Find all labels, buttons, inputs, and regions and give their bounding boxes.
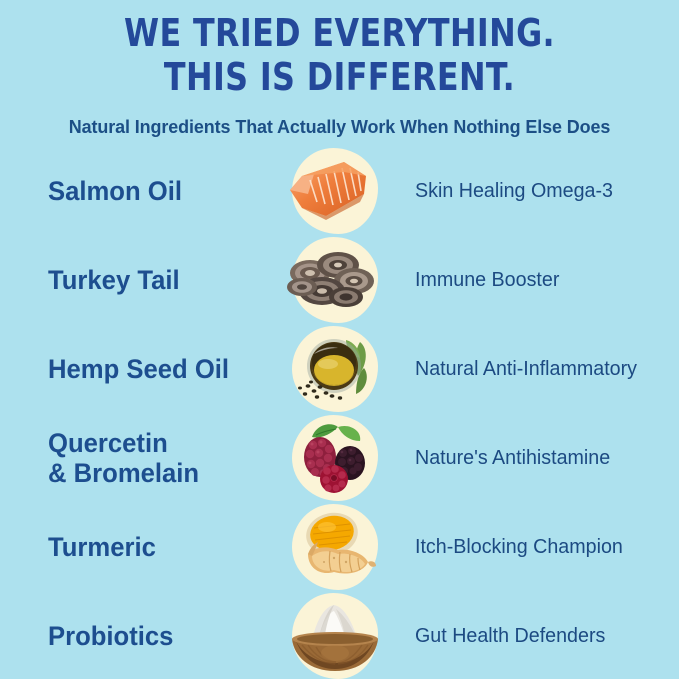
- berries-icon: [272, 413, 398, 502]
- ingredient-row-probiotics: Probiotics: [0, 591, 679, 679]
- ingredient-benefit: Gut Health Defenders: [415, 625, 605, 647]
- ingredient-art: [272, 413, 398, 502]
- ingredient-art: [272, 235, 398, 324]
- ingredient-benefit: Skin Healing Omega-3: [415, 180, 613, 202]
- ingredient-name: Hemp Seed Oil: [48, 354, 229, 384]
- ingredient-name: Salmon Oil: [48, 176, 182, 206]
- ingredient-art: [272, 324, 398, 413]
- ingredient-row-salmon-oil: Salmon Oil: [0, 146, 679, 235]
- ingredient-name: Quercetin & Bromelain: [48, 428, 199, 488]
- probiotic-powder-bowl-icon: [272, 591, 398, 679]
- ingredient-infographic: WE TRIED EVERYTHING. THIS IS DIFFERENT. …: [0, 0, 679, 679]
- turmeric-root-icon: [272, 502, 398, 591]
- ingredient-row-quercetin-bromelain: Quercetin & Bromelain: [0, 413, 679, 502]
- ingredient-row-turmeric: Turmeric: [0, 502, 679, 591]
- ingredient-benefit: Nature's Antihistamine: [415, 447, 610, 469]
- hemp-oil-bowl-icon: [272, 324, 398, 413]
- ingredient-name: Probiotics: [48, 621, 173, 651]
- header: WE TRIED EVERYTHING. THIS IS DIFFERENT. …: [0, 0, 679, 137]
- ingredient-benefit: Itch-Blocking Champion: [415, 536, 623, 558]
- ingredient-art: [272, 591, 398, 679]
- ingredient-benefit: Immune Booster: [415, 269, 559, 291]
- ingredient-art: [272, 502, 398, 591]
- ingredient-list: Salmon Oil: [0, 146, 679, 679]
- headline-line-2: THIS IS DIFFERENT.: [24, 58, 655, 96]
- ingredient-art: [272, 146, 398, 235]
- ingredient-benefit: Natural Anti-Inflammatory: [415, 358, 637, 380]
- salmon-fillet-icon: [272, 146, 398, 235]
- turkey-tail-mushroom-icon: [272, 235, 398, 324]
- subheadline: Natural Ingredients That Actually Work W…: [10, 117, 669, 137]
- ingredient-row-turkey-tail: Turkey Tail: [0, 235, 679, 324]
- ingredient-row-hemp-seed-oil: Hemp Seed Oil: [0, 324, 679, 413]
- ingredient-name: Turkey Tail: [48, 265, 180, 295]
- ingredient-name: Turmeric: [48, 532, 156, 562]
- headline-line-1: WE TRIED EVERYTHING.: [24, 14, 655, 52]
